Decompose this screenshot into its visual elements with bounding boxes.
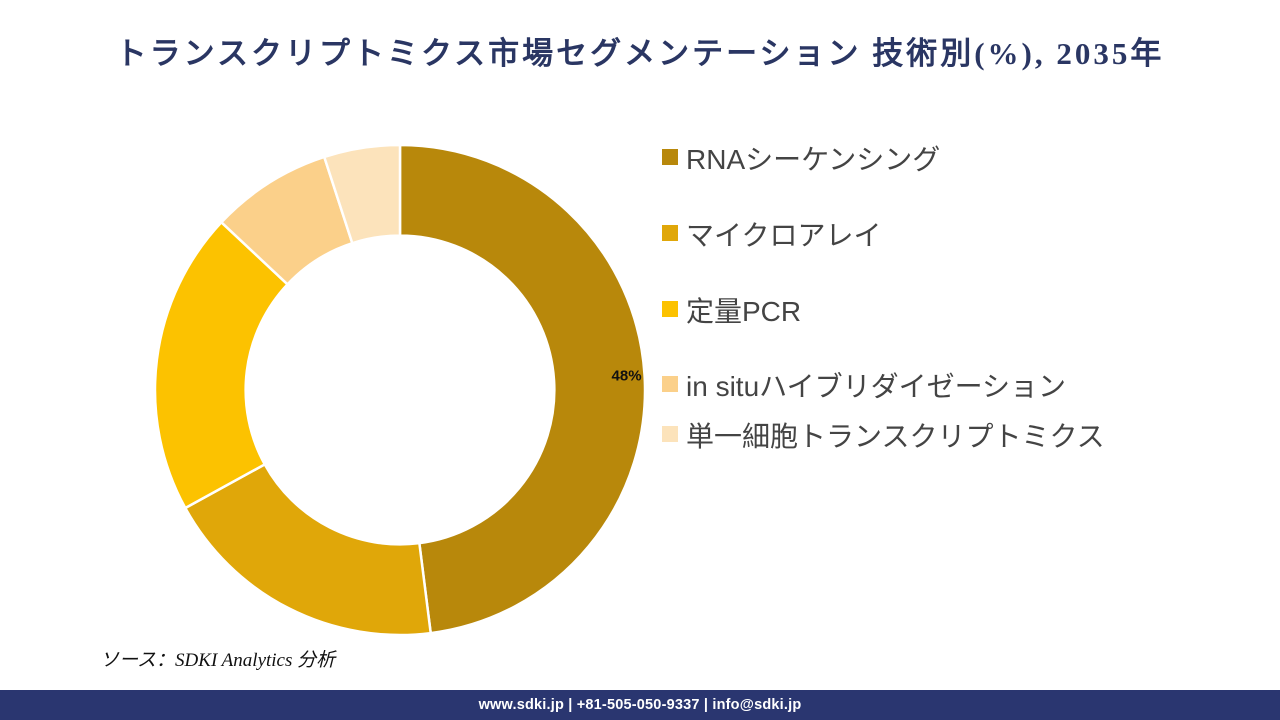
chart-legend: RNAシーケンシング マイクロアレイ 定量PCR in situハイブリダイゼー… [662,140,1202,467]
donut-slice-group [155,145,645,635]
footer-bar: www.sdki.jp | +81-505-050-9337 | info@sd… [0,690,1280,720]
legend-item-label: 定量PCR [686,292,801,332]
legend-item-label: in situハイブリダイゼーション [686,367,1066,407]
legend-item-quantitative-pcr[interactable]: 定量PCR [662,292,1202,332]
legend-item-single-cell-transcriptomics[interactable]: 単一細胞トランスクリプトミクス [662,417,1202,457]
page-title: トランスクリプトミクス市場セグメンテーション 技術別(%), 2035年 [0,28,1280,73]
legend-item-label: 単一細胞トランスクリプトミクス [686,417,1105,457]
legend-swatch-icon [662,426,678,442]
slice-data-label-48: 48% [612,368,642,385]
legend-swatch-icon [662,149,678,165]
legend-item-rna-sequencing[interactable]: RNAシーケンシング [662,140,1202,180]
donut-slice[interactable] [400,145,645,633]
legend-swatch-icon [662,376,678,392]
donut-chart-svg: 48% [150,140,650,640]
legend-item-in-situ-hybridization[interactable]: in situハイブリダイゼーション [662,367,1202,407]
legend-item-microarray[interactable]: マイクロアレイ [662,216,1202,256]
legend-swatch-icon [662,225,678,241]
legend-item-label: マイクロアレイ [686,216,881,256]
legend-item-label: RNAシーケンシング [686,140,940,180]
donut-chart: 48% [150,140,650,640]
legend-swatch-icon [662,301,678,317]
source-note: ソース：SDKI Analytics 分析 [100,645,335,672]
footer-contact-text: www.sdki.jp | +81-505-050-9337 | info@sd… [479,697,802,713]
donut-slice[interactable] [185,464,430,635]
